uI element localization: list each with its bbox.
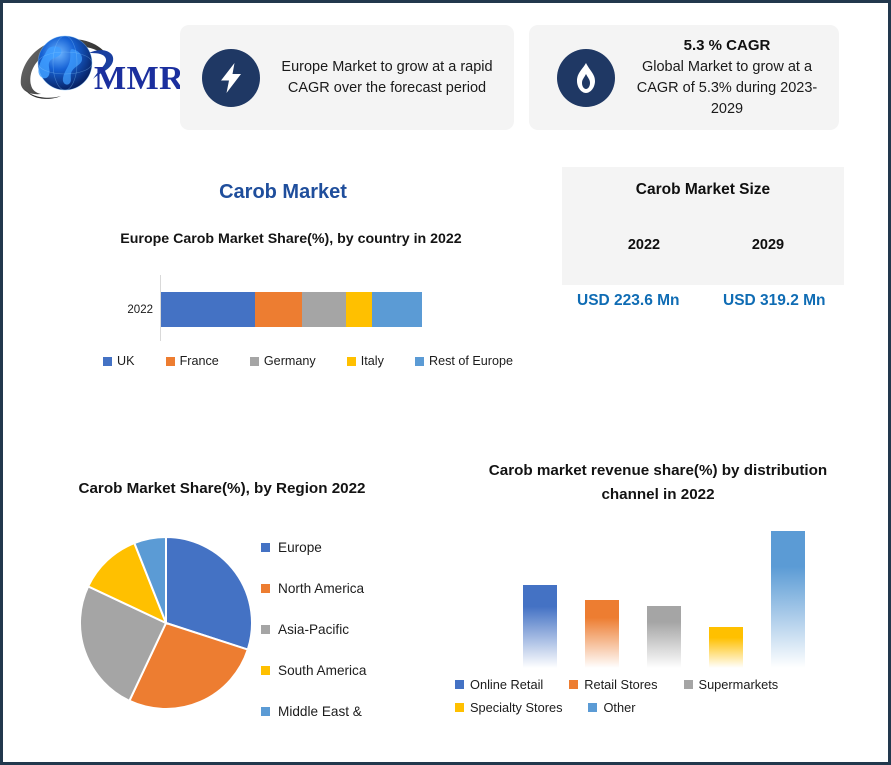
header-card-1-body: Europe Market to grow at a rapid CAGR ov… [268, 57, 506, 99]
header-card-global-cagr: 5.3 % CAGR Global Market to grow at a CA… [529, 25, 839, 130]
svg-text:MMR: MMR [94, 60, 184, 97]
mmr-globe-logo: MMR [17, 27, 185, 103]
market-size-value-2029: USD 319.2 Mn [716, 287, 833, 315]
lightning-bolt-icon [202, 49, 260, 107]
header-card-2-body: Global Market to grow at a CAGR of 5.3% … [623, 57, 831, 120]
legend-item-middle-east: Middle East & [261, 691, 441, 732]
legend-label-north-america: North America [278, 581, 364, 596]
legend-item-france: France [166, 354, 219, 368]
bar-specialty-stores [709, 627, 743, 668]
legend-item-supermarkets: Supermarkets [684, 677, 779, 692]
axis-tick-label-2022: 2022 [103, 304, 153, 316]
region-share-pie-chart [78, 535, 254, 711]
stacked-bar [161, 292, 422, 327]
europe-share-stacked-bar-chart: 2022 [103, 275, 503, 345]
page-title: Carob Market [103, 181, 463, 204]
legend-swatch-north-america [261, 584, 270, 593]
region-share-legend: Europe North America Asia-Pacific South … [261, 527, 441, 732]
legend-item-retail-stores: Retail Stores [569, 677, 657, 692]
legend-swatch-uk [103, 357, 112, 366]
distribution-channel-chart-title: Carob market revenue share(%) by distrib… [458, 459, 858, 507]
legend-swatch-france [166, 357, 175, 366]
market-size-card: Carob Market Size 2022 2029 [562, 167, 844, 285]
legend-row-2: Specialty Stores Other [455, 696, 855, 719]
header-card-europe-cagr: Europe Market to grow at a rapid CAGR ov… [180, 25, 514, 130]
legend-label-retail-stores: Retail Stores [584, 677, 657, 692]
legend-label-uk: UK [117, 354, 135, 368]
legend-row-1: Online Retail Retail Stores Supermarkets [455, 673, 855, 696]
legend-item-uk: UK [103, 354, 135, 368]
header-card-2-text: 5.3 % CAGR Global Market to grow at a CA… [615, 35, 839, 120]
market-size-title: Carob Market Size [562, 181, 844, 199]
header-band: MMR Europe Market to grow at a rapid CAG… [3, 3, 891, 143]
header-card-1-text: Europe Market to grow at a rapid CAGR ov… [260, 57, 514, 99]
legend-item-other: Other [588, 700, 635, 715]
header-card-2-heading: 5.3 % CAGR [623, 35, 831, 57]
legend-label-asia-pacific: Asia-Pacific [278, 622, 349, 637]
legend-label-online-retail: Online Retail [470, 677, 543, 692]
legend-item-online-retail: Online Retail [455, 677, 543, 692]
legend-label-italy: Italy [361, 354, 384, 368]
bar-online-retail [523, 585, 557, 668]
legend-item-north-america: North America [261, 568, 441, 609]
bar-segment-uk [161, 292, 255, 327]
legend-label-france: France [180, 354, 219, 368]
legend-label-supermarkets: Supermarkets [699, 677, 779, 692]
legend-item-rest-of-europe: Rest of Europe [415, 354, 513, 368]
legend-swatch-europe [261, 543, 270, 552]
legend-swatch-middle-east [261, 707, 270, 716]
market-size-year-2022: 2022 [604, 237, 684, 253]
legend-swatch-asia-pacific [261, 625, 270, 634]
bar-supermarkets [647, 606, 681, 668]
legend-swatch-other [588, 703, 597, 712]
legend-label-europe: Europe [278, 540, 322, 555]
legend-swatch-south-america [261, 666, 270, 675]
legend-item-italy: Italy [347, 354, 384, 368]
bar-segment-italy [346, 292, 372, 327]
distribution-channel-bar-chart [458, 523, 858, 668]
distribution-channel-legend: Online Retail Retail Stores Supermarkets… [455, 673, 855, 719]
legend-label-germany: Germany [264, 354, 316, 368]
legend-item-asia-pacific: Asia-Pacific [261, 609, 441, 650]
legend-label-rest-of-europe: Rest of Europe [429, 354, 513, 368]
bar-other [771, 531, 805, 668]
legend-swatch-online-retail [455, 680, 464, 689]
bar-segment-germany [302, 292, 346, 327]
bar-segment-france [255, 292, 302, 327]
infographic-frame: MMR Europe Market to grow at a rapid CAG… [0, 0, 891, 765]
region-share-chart-title: Carob Market Share(%), by Region 2022 [51, 477, 393, 501]
legend-label-other: Other [603, 700, 635, 715]
europe-share-chart-title: Europe Carob Market Share(%), by country… [91, 229, 491, 250]
legend-label-middle-east: Middle East & [278, 704, 362, 719]
legend-swatch-supermarkets [684, 680, 693, 689]
europe-share-legend: UK France Germany Italy Rest of Europe [103, 354, 513, 368]
legend-swatch-retail-stores [569, 680, 578, 689]
legend-label-specialty-stores: Specialty Stores [470, 700, 562, 715]
legend-swatch-germany [250, 357, 259, 366]
legend-label-south-america: South America [278, 663, 366, 678]
market-size-year-2029: 2029 [728, 237, 808, 253]
bar-segment-rest-of-europe [372, 292, 422, 327]
market-size-value-2022: USD 223.6 Mn [570, 287, 687, 315]
legend-swatch-specialty-stores [455, 703, 464, 712]
legend-swatch-rest-of-europe [415, 357, 424, 366]
legend-swatch-italy [347, 357, 356, 366]
legend-item-germany: Germany [250, 354, 316, 368]
legend-item-south-america: South America [261, 650, 441, 691]
bar-retail-stores [585, 600, 619, 668]
legend-item-europe: Europe [261, 527, 441, 568]
flame-icon [557, 49, 615, 107]
legend-item-specialty-stores: Specialty Stores [455, 700, 562, 715]
